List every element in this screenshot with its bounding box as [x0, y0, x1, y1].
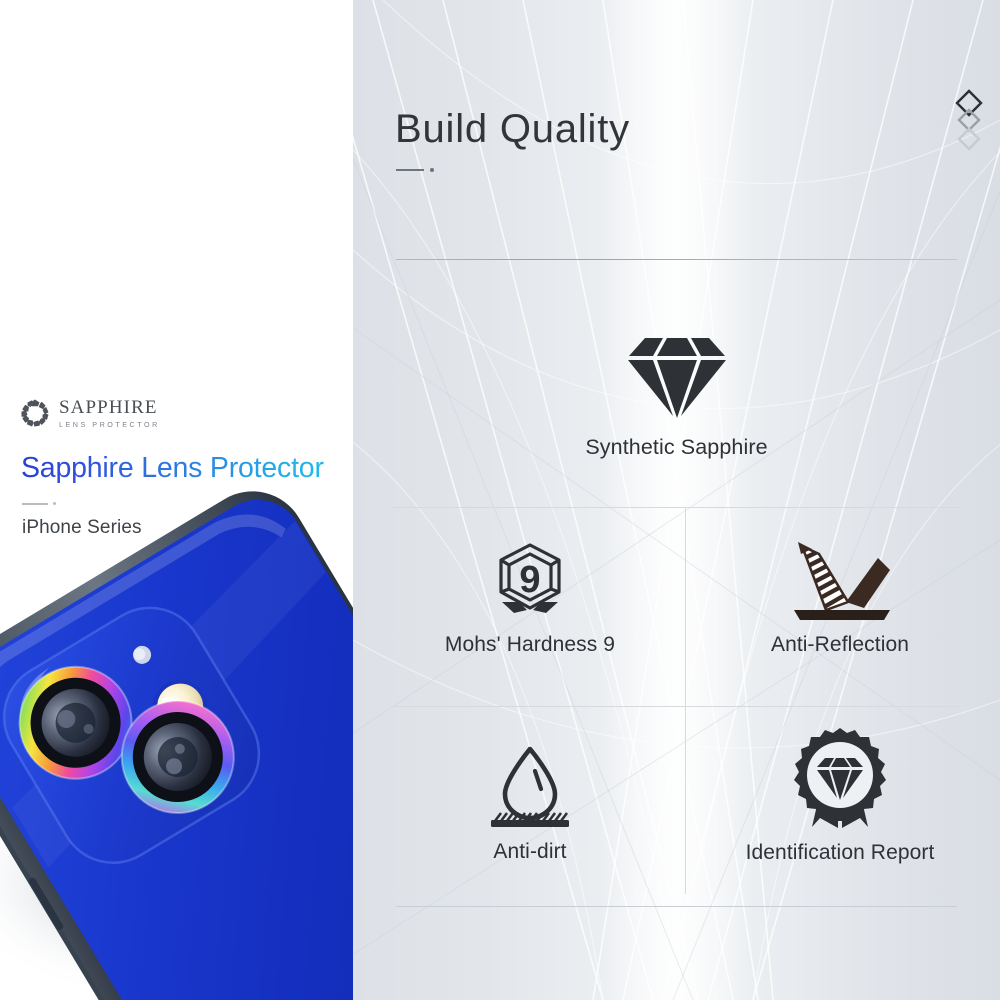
water-droplet-icon — [487, 745, 573, 831]
dash-dot-accent-left — [22, 502, 56, 505]
feature-label: Synthetic Sapphire — [585, 435, 767, 460]
feature-synthetic-sapphire: Synthetic Sapphire — [353, 330, 1000, 460]
product-subtitle: iPhone Series — [22, 517, 142, 539]
grid-divider-row2 — [393, 706, 960, 707]
feature-label: Mohs' Hardness 9 — [445, 633, 615, 657]
feature-label: Anti-Reflection — [771, 633, 909, 657]
brand-subtitle: LENS PROTECTOR — [59, 420, 160, 429]
hexagon-gem-9-icon: 9 — [488, 540, 572, 624]
right-panel: Build Quality Synthetic Sapphire — [353, 0, 1000, 1000]
svg-text:9: 9 — [519, 559, 540, 601]
brand-logo: SAPPHIRE LENS PROTECTOR — [20, 398, 160, 429]
accent-bar — [396, 169, 424, 172]
left-panel: SAPPHIRE LENS PROTECTOR Sapphire Lens Pr… — [0, 0, 353, 1000]
product-infographic: SAPPHIRE LENS PROTECTOR Sapphire Lens Pr… — [0, 0, 1000, 1000]
product-title: Sapphire Lens Protector — [21, 452, 353, 485]
feature-anti-dirt: Anti-dirt — [375, 745, 685, 864]
feature-identification-report: Identification Report — [685, 728, 995, 865]
feature-mohs-hardness: 9 Mohs' Hardness 9 — [375, 540, 685, 657]
sapphire-gem-ring-icon — [20, 398, 50, 428]
accent-dot — [430, 168, 434, 172]
brand-name: SAPPHIRE — [59, 398, 160, 418]
diamond-icon — [625, 330, 729, 422]
stacked-diamonds-icon — [952, 88, 986, 156]
page-title: Build Quality — [395, 109, 630, 149]
grid-divider-row1 — [393, 507, 960, 508]
top-divider — [396, 259, 957, 260]
feature-anti-reflection: Anti-Reflection — [685, 540, 995, 657]
feature-label: Identification Report — [746, 841, 935, 865]
light-ray-reflection-icon — [786, 540, 894, 624]
iphone-camera-module-photo — [0, 0, 353, 1000]
dash-dot-accent-right — [396, 168, 434, 172]
accent-dot — [53, 502, 56, 505]
award-rosette-diamond-icon — [792, 728, 888, 832]
feature-label: Anti-dirt — [493, 840, 566, 864]
bottom-divider — [396, 906, 957, 907]
accent-bar — [22, 503, 48, 505]
